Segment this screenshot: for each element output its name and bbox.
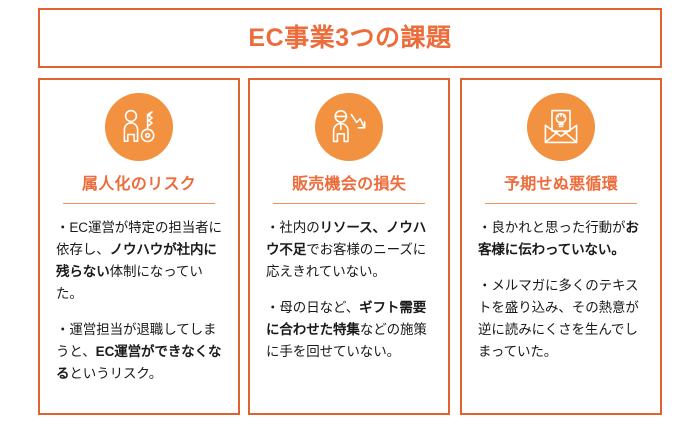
card-paragraph: ・運営担当が退職してしまうと、EC運営ができなくなるというリスク。 bbox=[56, 319, 222, 385]
icon-container-3 bbox=[462, 93, 660, 161]
card-heading-2: 販売機会の損失 bbox=[250, 175, 448, 194]
card-paragraph: ・良かれと思った行動がお客様に伝わっていない。 bbox=[478, 217, 644, 261]
challenge-card-2: 販売機会の損失 ・社内のリソース、ノウハウ不足でお客様のニーズに応えきれていない… bbox=[248, 78, 450, 415]
card-heading-3: 予期せぬ悪循環 bbox=[462, 175, 660, 194]
card-paragraph: ・社内のリソース、ノウハウ不足でお客様のニーズに応えきれていない。 bbox=[266, 217, 432, 283]
card-heading-1: 属人化のリスク bbox=[40, 175, 238, 194]
card-body-2: ・社内のリソース、ノウハウ不足でお客様のニーズに応えきれていない。 ・母の日など… bbox=[250, 204, 448, 363]
card-paragraph: ・メルマガに多くのテキストを盛り込み、その熱意が逆に読みにくさを生んでしまってい… bbox=[478, 275, 644, 363]
envelope-lightbulb-icon bbox=[527, 93, 595, 161]
icon-container-2 bbox=[250, 93, 448, 161]
card-paragraph: ・母の日など、ギフト需要に合わせた特集などの施策に手を回せていない。 bbox=[266, 297, 432, 363]
page-title: EC事業3つの課題 bbox=[248, 26, 451, 51]
person-declining-arrow-icon bbox=[315, 93, 383, 161]
challenge-card-3: 予期せぬ悪循環 ・良かれと思った行動がお客様に伝わっていない。 ・メルマガに多く… bbox=[460, 78, 662, 415]
card-paragraph: ・EC運営が特定の担当者に依存し、ノウハウが社内に残らない体制になっていた。 bbox=[56, 217, 222, 305]
card-body-1: ・EC運営が特定の担当者に依存し、ノウハウが社内に残らない体制になっていた。 ・… bbox=[40, 204, 238, 385]
icon-container-1 bbox=[40, 93, 238, 161]
infographic-canvas: EC事業3つの課題 属人化のリスク ・EC運営が特定の担当者に依存し、ノウハウが… bbox=[0, 0, 700, 427]
person-key-icon bbox=[105, 93, 173, 161]
card-body-3: ・良かれと思った行動がお客様に伝わっていない。 ・メルマガに多くのテキストを盛り… bbox=[462, 204, 660, 363]
challenge-card-1: 属人化のリスク ・EC運営が特定の担当者に依存し、ノウハウが社内に残らない体制に… bbox=[38, 78, 240, 415]
title-banner: EC事業3つの課題 bbox=[38, 8, 662, 68]
